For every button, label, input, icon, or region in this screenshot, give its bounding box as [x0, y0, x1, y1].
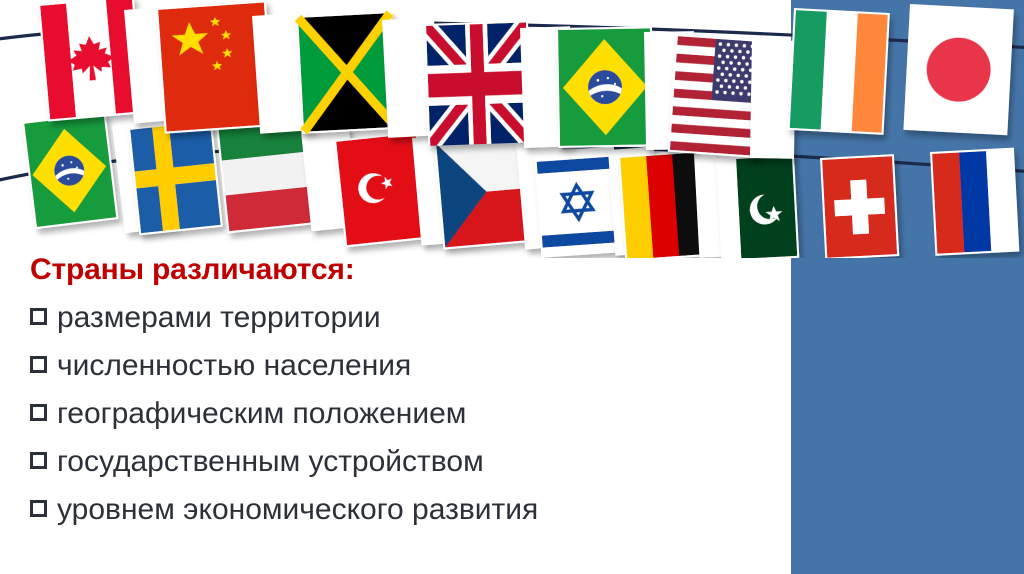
presentation-slide: Страны различаются: размерами территории… [0, 0, 1024, 574]
list-item: уровнем экономического развития [30, 486, 800, 534]
list-item: географическим положением [30, 390, 800, 438]
bullet-label: географическим положением [57, 390, 466, 438]
hollow-square-shadow-icon [30, 499, 52, 521]
list-item: численностью населения [30, 342, 800, 390]
bullet-list: размерами территории численностью населе… [0, 294, 800, 534]
flag-bunting-banner [0, 0, 1024, 258]
bullet-label: численностью населения [57, 342, 411, 390]
hollow-square-shadow-icon [30, 403, 52, 425]
list-item: размерами территории [30, 294, 800, 342]
hollow-square-shadow-icon [30, 307, 52, 329]
hollow-square-shadow-icon [30, 355, 52, 377]
list-item: государственным устройством [30, 438, 800, 486]
bullet-label: размерами территории [57, 294, 381, 342]
page-title: Страны различаются: [0, 252, 800, 288]
bullet-label: уровнем экономического развития [57, 486, 538, 534]
bullet-label: государственным устройством [57, 438, 484, 486]
slide-text-content: Страны различаются: размерами территории… [0, 252, 800, 534]
hollow-square-shadow-icon [30, 451, 52, 473]
